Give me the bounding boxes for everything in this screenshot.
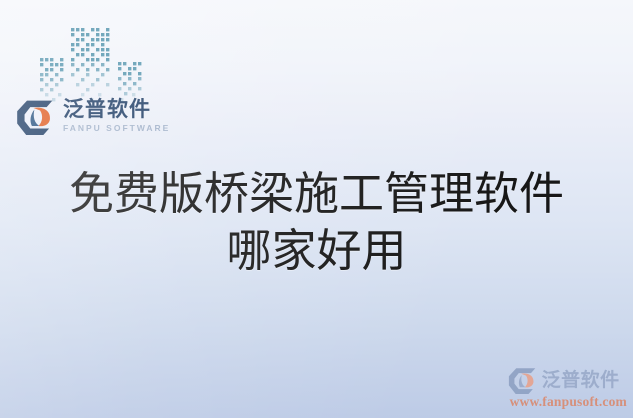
watermark: 泛普软件 www.fanpusoft.com	[508, 367, 627, 410]
page-title-line-2: 哪家好用	[0, 223, 633, 280]
brand-name-en: FANPU SOFTWARE	[63, 122, 170, 136]
fanpu-logo-icon	[16, 99, 56, 135]
watermark-url: www.fanpusoft.com	[510, 395, 627, 410]
fanpu-logo-watermark-icon	[508, 367, 538, 394]
brand-wordmark: 泛普软件 FANPU SOFTWARE	[63, 99, 170, 136]
page-title-line-1: 免费版桥梁施工管理软件	[0, 166, 633, 223]
page-title: 免费版桥梁施工管理软件 哪家好用	[0, 166, 633, 280]
poster-canvas: 泛普软件 FANPU SOFTWARE 免费版桥梁施工管理软件 哪家好用 泛普软…	[0, 0, 633, 418]
brand-name-cn: 泛普软件	[63, 99, 170, 121]
pixel-skyline-icon	[38, 20, 158, 105]
watermark-name-cn: 泛普软件	[542, 371, 620, 390]
brand-logo: 泛普软件 FANPU SOFTWARE	[16, 99, 170, 136]
watermark-logo: 泛普软件	[508, 367, 620, 394]
